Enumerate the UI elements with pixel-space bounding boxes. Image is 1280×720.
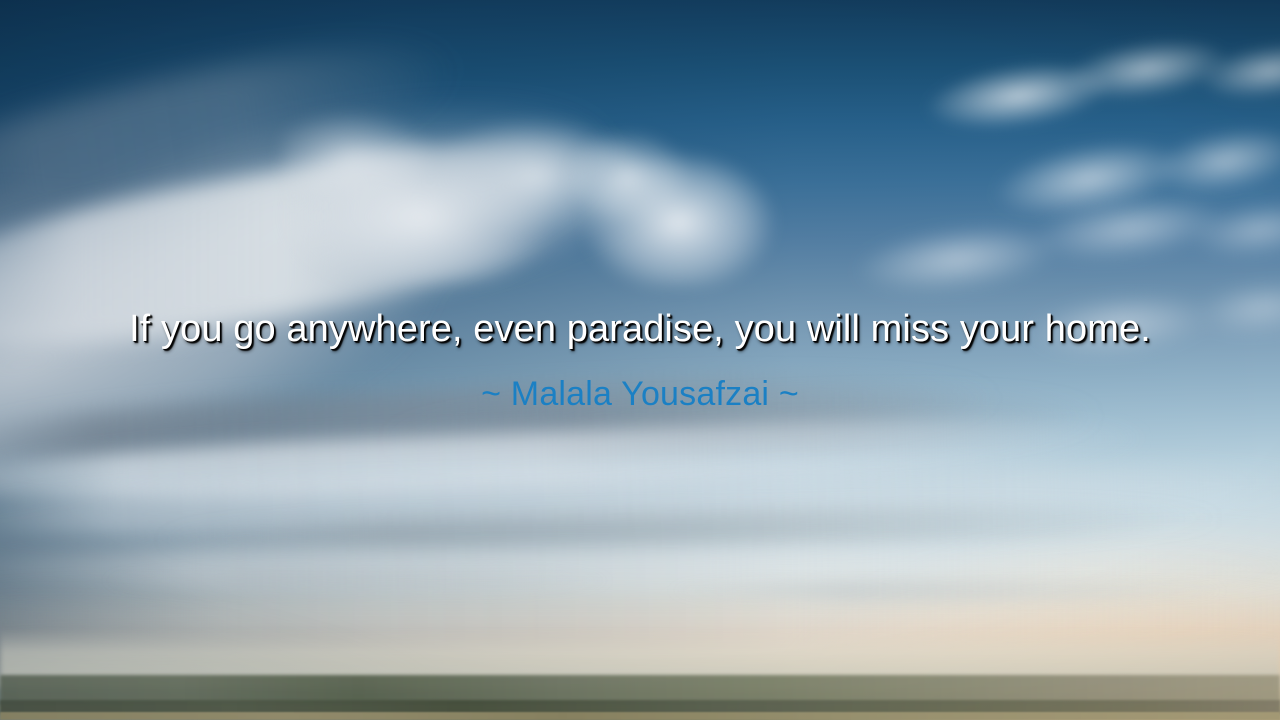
quote-overlay: If you go anywhere, even paradise, you w… <box>0 306 1280 414</box>
quote-card-canvas: If you go anywhere, even paradise, you w… <box>0 0 1280 720</box>
quote-attribution: ~ Malala Yousafzai ~ <box>0 374 1280 414</box>
quote-text: If you go anywhere, even paradise, you w… <box>0 306 1280 352</box>
